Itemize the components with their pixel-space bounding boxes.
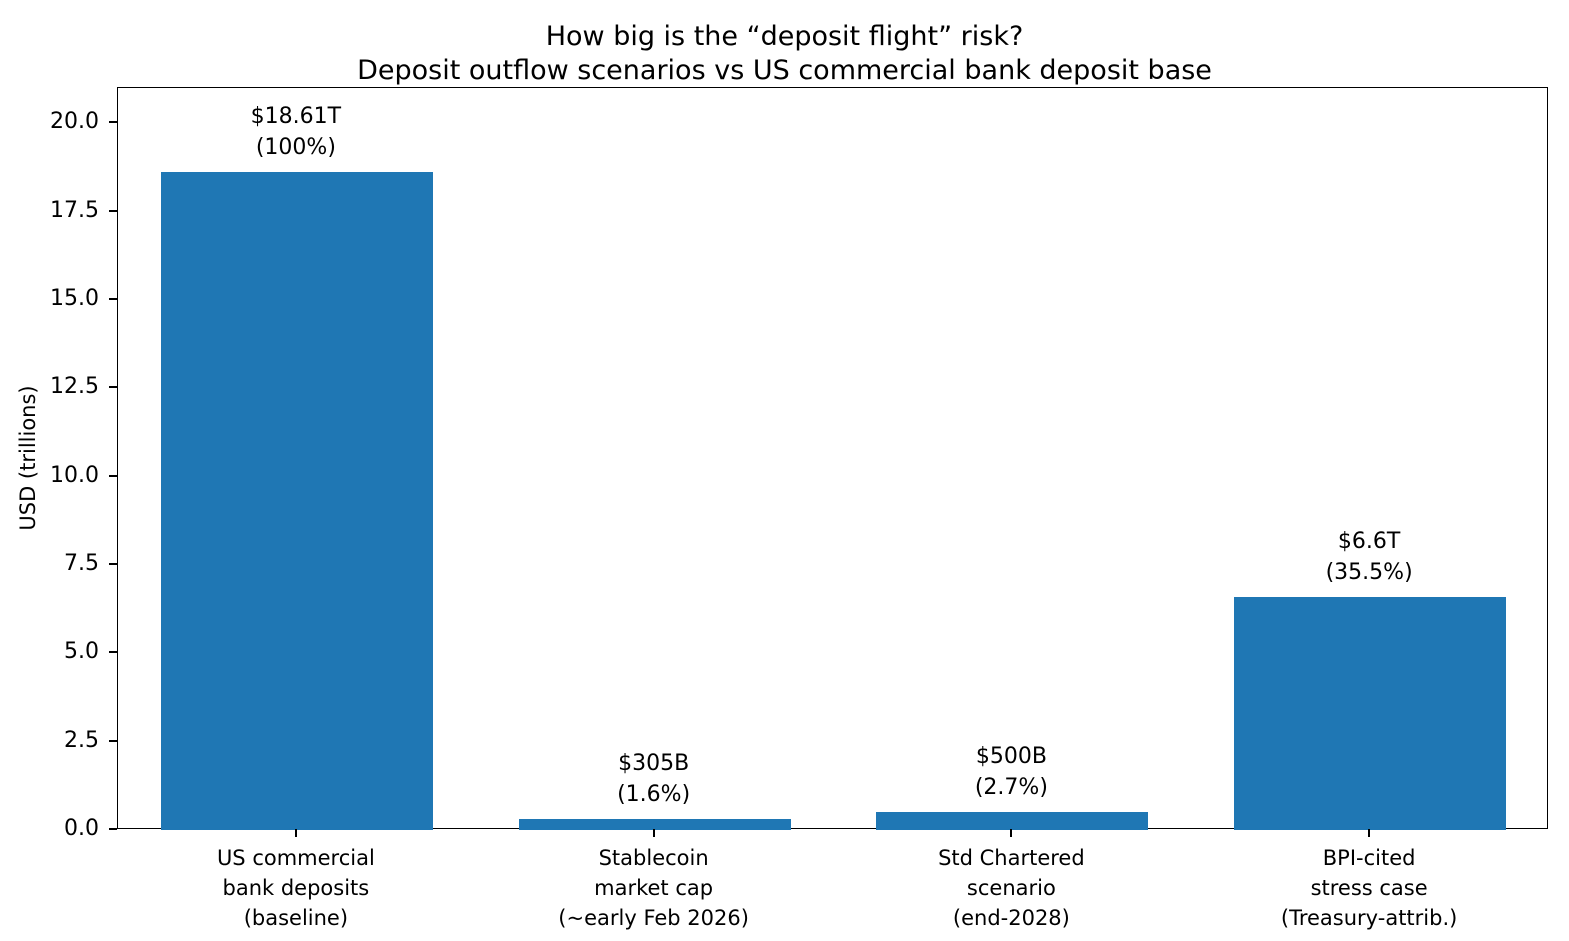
chart-title: How big is the “deposit flight” risk? De… — [0, 20, 1569, 88]
x-tick-label: BPI-cited stress case (Treasury-attrib.) — [1190, 843, 1548, 933]
y-tick-mark — [109, 298, 117, 300]
bar-chart-figure: How big is the “deposit flight” risk? De… — [0, 0, 1569, 941]
bar[interactable] — [519, 819, 791, 830]
x-tick-label: US commercial bank deposits (baseline) — [117, 843, 475, 933]
y-tick-mark — [109, 740, 117, 742]
x-tick-mark — [295, 829, 297, 837]
y-tick-mark — [109, 651, 117, 653]
plot-area — [117, 87, 1548, 829]
y-tick-label: 2.5 — [0, 726, 99, 756]
y-tick-label: 7.5 — [0, 549, 99, 579]
bar-value-label: $6.6T (35.5%) — [1190, 526, 1548, 588]
x-tick-label: Std Chartered scenario (end-2028) — [833, 843, 1191, 933]
bar[interactable] — [1234, 597, 1506, 830]
bar[interactable] — [876, 812, 1148, 830]
y-tick-mark — [109, 828, 117, 830]
y-tick-label: 5.0 — [0, 637, 99, 667]
x-tick-mark — [1368, 829, 1370, 837]
y-tick-mark — [109, 210, 117, 212]
y-tick-mark — [109, 563, 117, 565]
y-tick-mark — [109, 386, 117, 388]
bar-value-label: $305B (1.6%) — [475, 748, 833, 810]
y-tick-mark — [109, 121, 117, 123]
x-tick-label: Stablecoin market cap (~early Feb 2026) — [475, 843, 833, 933]
x-tick-mark — [653, 829, 655, 837]
y-tick-label: 17.5 — [0, 196, 99, 226]
y-tick-label: 0.0 — [0, 814, 99, 844]
y-tick-label: 20.0 — [0, 107, 99, 137]
y-tick-label: 12.5 — [0, 372, 99, 402]
bar-value-label: $500B (2.7%) — [833, 741, 1191, 803]
y-tick-label: 15.0 — [0, 284, 99, 314]
y-tick-label: 10.0 — [0, 461, 99, 491]
bar[interactable] — [161, 172, 433, 830]
x-tick-mark — [1010, 829, 1012, 837]
bar-value-label: $18.61T (100%) — [117, 101, 475, 163]
y-tick-mark — [109, 475, 117, 477]
